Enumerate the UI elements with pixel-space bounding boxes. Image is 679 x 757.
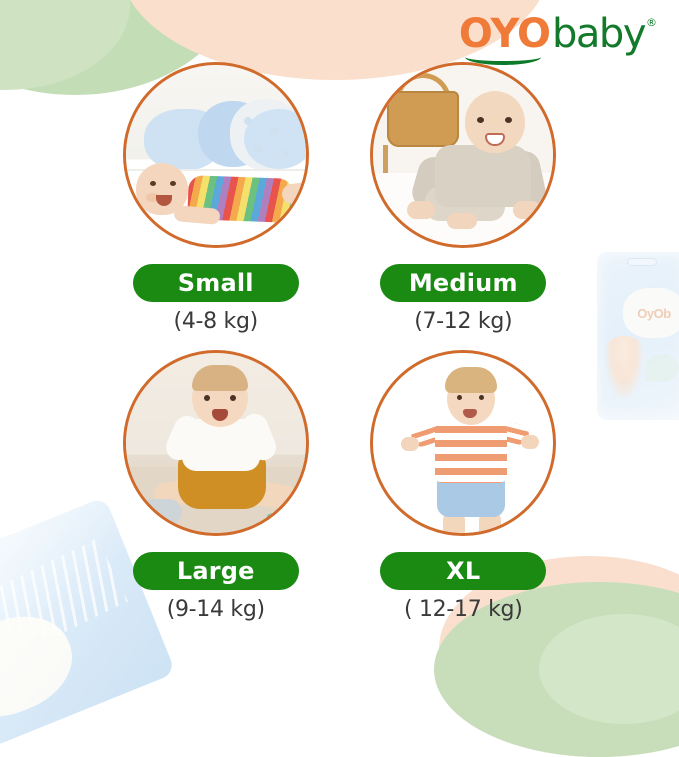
logo-baby-label: baby <box>552 14 645 54</box>
size-pill-small[interactable]: Small <box>133 264 299 302</box>
pack-logo-text: oyO <box>0 652 3 694</box>
size-card-xl: XL ( 12-17 kg) <box>340 350 588 622</box>
decorative-blob-green-bottom-right-2 <box>539 614 679 724</box>
size-card-medium: Medium (7-12 kg) <box>340 62 588 334</box>
baby-photo-medium <box>373 65 553 245</box>
size-pill-xl[interactable]: XL <box>380 552 546 590</box>
weight-range-small: (4-8 kg) <box>174 309 258 334</box>
weight-range-large: (9-14 kg) <box>167 597 265 622</box>
size-chart-grid: Small (4-8 kg) Medium (7-12 kg) <box>0 62 679 622</box>
photo-ring-small <box>123 62 309 248</box>
baby-photo-xl <box>373 353 553 533</box>
baby-photo-small <box>126 65 306 245</box>
size-pill-medium[interactable]: Medium <box>380 264 546 302</box>
brand-logo: OYO baby ® <box>459 14 657 64</box>
photo-ring-xl <box>370 350 556 536</box>
size-card-small: Small (4-8 kg) <box>92 62 340 334</box>
logo-oyo-text: OYO <box>459 14 550 64</box>
photo-ring-medium <box>370 62 556 248</box>
weight-range-medium: (7-12 kg) <box>414 309 512 334</box>
photo-ring-large <box>123 350 309 536</box>
baby-photo-large <box>126 353 306 533</box>
weight-range-xl: ( 12-17 kg) <box>404 597 522 622</box>
size-pill-large[interactable]: Large <box>133 552 299 590</box>
size-card-large: Large (9-14 kg) <box>92 350 340 622</box>
registered-trademark-icon: ® <box>646 17 657 28</box>
